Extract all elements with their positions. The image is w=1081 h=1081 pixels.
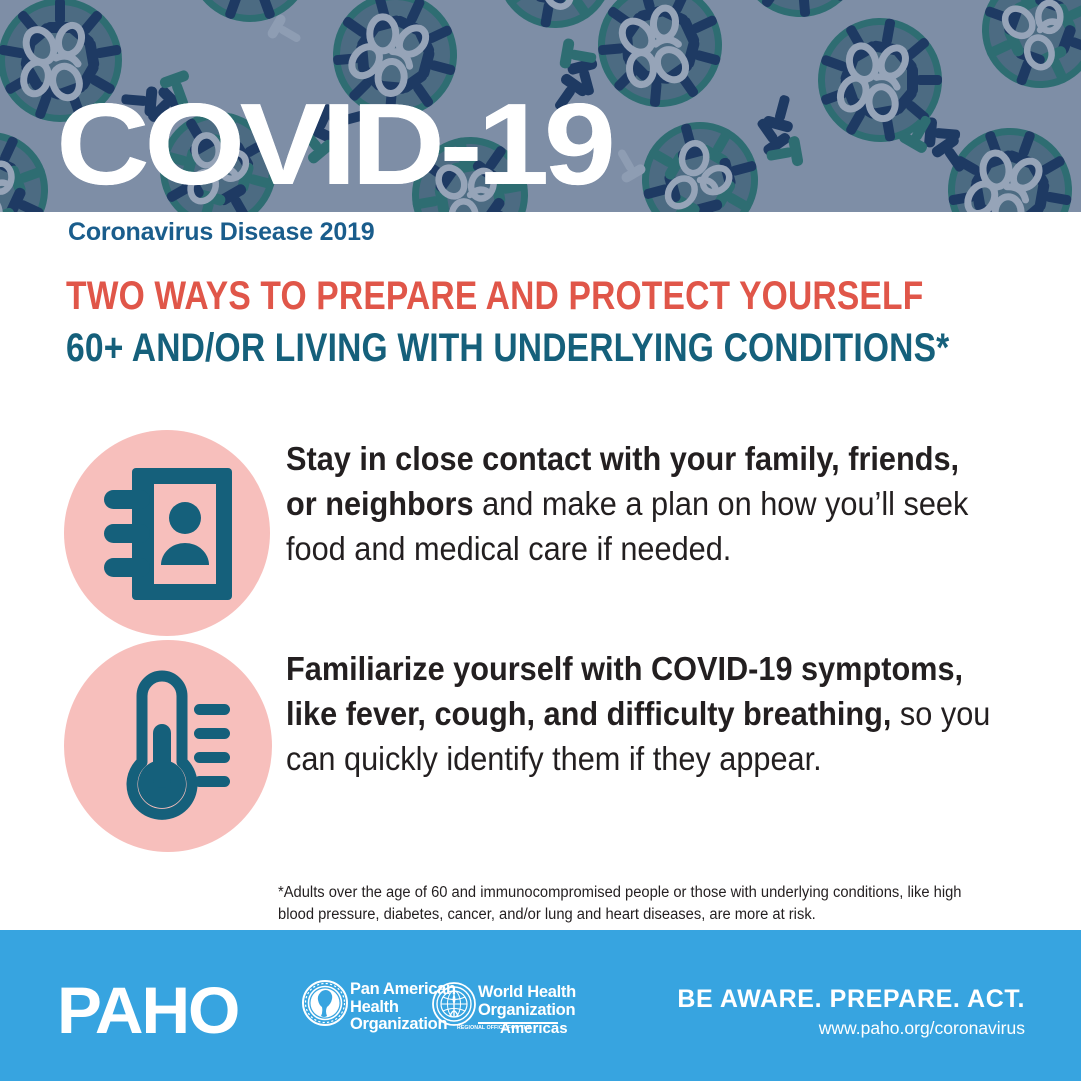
headline-secondary: 60+ AND/OR LIVING WITH UNDERLYING CONDIT…	[66, 326, 949, 371]
footer-url-link[interactable]: www.paho.org/coronavirus	[819, 1018, 1025, 1039]
page-title: COVID-19	[56, 86, 610, 202]
who-org-name: World Health Organization	[478, 984, 576, 1019]
footnote-text: *Adults over the age of 60 and immunocom…	[278, 882, 981, 926]
who-org-line2: Organization	[478, 1002, 576, 1020]
page-subtitle: Coronavirus Disease 2019	[68, 218, 374, 247]
paho-wordmark: PAHO	[57, 977, 238, 1043]
header-band: COVID-19	[0, 0, 1081, 212]
headline-primary: TWO WAYS TO PREPARE AND PROTECT YOURSELF	[66, 274, 923, 319]
who-org-line1: World Health	[478, 984, 576, 1002]
infographic-poster: COVID-19 Coronavirus Disease 2019 TWO WA…	[0, 0, 1081, 1081]
who-seal-icon	[432, 982, 476, 1026]
who-region-name: Americas	[500, 1020, 568, 1037]
paho-seal-icon	[302, 980, 348, 1026]
thermometer-icon	[98, 666, 248, 826]
address-book-icon	[96, 460, 244, 608]
tip-text-symptoms: Familiarize yourself with COVID-19 sympt…	[286, 646, 993, 781]
footer-tagline: BE AWARE. PREPARE. ACT.	[677, 985, 1025, 1014]
tip-text-contact: Stay in close contact with your family, …	[286, 436, 993, 571]
tip-bold-symptoms: Familiarize yourself with COVID-19 sympt…	[286, 650, 963, 732]
